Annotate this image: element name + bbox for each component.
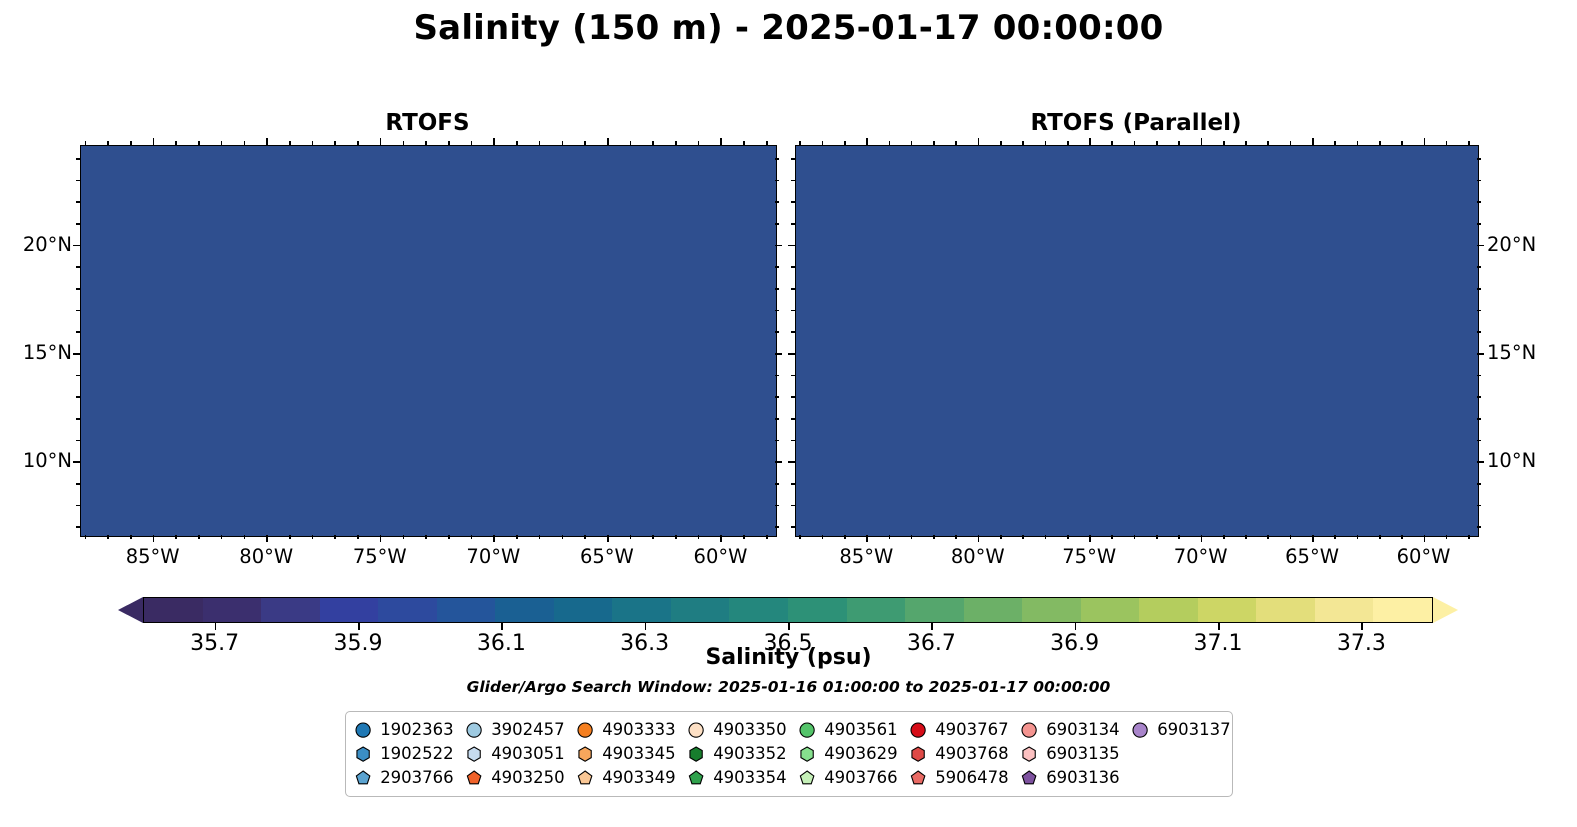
x-minor-tick-top — [889, 141, 891, 145]
legend-item-4903768[interactable]: 4903768 — [909, 745, 1020, 763]
colorbar-swatch-4 — [378, 598, 437, 622]
legend-marker-circle-icon — [465, 721, 483, 739]
y-minor-tick-right — [775, 223, 779, 225]
legend-item-4903349[interactable]: 4903349 — [576, 769, 687, 787]
legend-label: 4903767 — [935, 722, 1009, 739]
x-minor-tick — [955, 535, 957, 539]
y-minor-tick-right — [1477, 418, 1481, 420]
y-minor-tick-right — [775, 418, 779, 420]
legend-marker-circle-icon — [354, 721, 372, 739]
legend-item-4903345[interactable]: 4903345 — [576, 745, 687, 763]
x-minor-tick-top — [1022, 141, 1024, 145]
colorbar-swatch-9 — [671, 598, 730, 622]
x-minor-tick-top — [675, 141, 677, 145]
legend-item-5906478[interactable]: 5906478 — [909, 769, 1020, 787]
x-major-tick-top — [1312, 138, 1314, 145]
x-minor-tick — [175, 535, 177, 539]
x-minor-tick-top — [198, 141, 200, 145]
x-major-tick — [1089, 535, 1091, 542]
x-minor-tick — [1446, 535, 1448, 539]
x-minor-tick — [743, 535, 745, 539]
y-minor-tick-right — [1477, 288, 1481, 290]
y-minor-tick — [791, 158, 795, 160]
legend-marker-circle-icon — [687, 721, 705, 739]
platform-legend[interactable]: 1902363390245749033334903350490356149037… — [345, 711, 1233, 797]
x-major-tick-top — [153, 138, 155, 145]
x-minor-tick — [698, 535, 700, 539]
x-tick-label: 80°W — [221, 545, 311, 568]
x-minor-tick — [844, 535, 846, 539]
x-minor-tick — [1067, 535, 1069, 539]
x-major-tick-top — [978, 138, 980, 145]
x-minor-tick — [822, 535, 824, 539]
legend-item-4903629[interactable]: 4903629 — [798, 745, 909, 763]
x-tick-label: 80°W — [933, 545, 1023, 568]
x-minor-tick — [1290, 535, 1292, 539]
legend-label: 4903349 — [602, 770, 676, 787]
y-minor-tick — [791, 223, 795, 225]
x-minor-tick-top — [630, 141, 632, 145]
legend-label: 4903345 — [602, 746, 676, 763]
legend-label: 6903137 — [1157, 722, 1231, 739]
x-minor-tick — [675, 535, 677, 539]
x-minor-tick — [1000, 535, 1002, 539]
colorbar-tick — [215, 623, 217, 630]
y-tick-label-right: 20°N — [1487, 233, 1536, 256]
x-minor-tick-top — [1379, 141, 1381, 145]
colorbar-swatch-18 — [1198, 598, 1257, 622]
x-major-tick — [866, 535, 868, 542]
x-minor-tick-top — [652, 141, 654, 145]
x-minor-tick-top — [448, 141, 450, 145]
x-tick-label: 85°W — [108, 545, 198, 568]
y-minor-tick-right — [1477, 223, 1481, 225]
x-tick-label: 75°W — [1044, 545, 1134, 568]
y-minor-tick-right — [1477, 158, 1481, 160]
legend-label: 4903250 — [491, 770, 565, 787]
y-minor-tick — [791, 505, 795, 507]
x-minor-tick — [130, 535, 132, 539]
y-minor-tick — [791, 310, 795, 312]
x-minor-tick-top — [1245, 141, 1247, 145]
x-tick-label: 70°W — [1156, 545, 1246, 568]
x-minor-tick-top — [471, 141, 473, 145]
legend-marker-pentagon-icon — [465, 769, 483, 787]
x-minor-tick-top — [1468, 141, 1470, 145]
legend-item-4903250[interactable]: 4903250 — [465, 769, 576, 787]
x-major-tick — [153, 535, 155, 542]
x-minor-tick — [1379, 535, 1381, 539]
colorbar-swatch-3 — [320, 598, 379, 622]
x-major-tick-top — [493, 138, 495, 145]
legend-label: 6903135 — [1046, 746, 1120, 763]
x-minor-tick — [766, 535, 768, 539]
colorbar-swatch-19 — [1256, 598, 1315, 622]
y-major-tick — [73, 245, 80, 247]
x-minor-tick — [425, 535, 427, 539]
y-major-tick-right — [1477, 461, 1484, 463]
y-minor-tick-right — [775, 483, 779, 485]
x-major-tick — [266, 535, 268, 542]
legend-item-4903333[interactable]: 4903333 — [576, 721, 687, 739]
legend-label: 4903561 — [824, 722, 898, 739]
colorbar-swatch-16 — [1081, 598, 1140, 622]
x-tick-label: 60°W — [1379, 545, 1469, 568]
x-minor-tick — [334, 535, 336, 539]
colorbar-swatch-5 — [437, 598, 496, 622]
x-minor-tick — [221, 535, 223, 539]
legend-label: 4903768 — [935, 746, 1009, 763]
x-major-tick-top — [1201, 138, 1203, 145]
x-minor-tick-top — [1290, 141, 1292, 145]
x-minor-tick — [1134, 535, 1136, 539]
x-minor-tick — [107, 535, 109, 539]
y-minor-tick-right — [1477, 180, 1481, 182]
y-minor-tick — [76, 288, 80, 290]
subplot-title-rtofs-parallel: RTOFS (Parallel) — [795, 110, 1477, 136]
colorbar-swatch-2 — [261, 598, 320, 622]
y-minor-tick — [791, 526, 795, 528]
subplot-title-rtofs: RTOFS — [80, 110, 775, 136]
legend-label: 6903134 — [1046, 722, 1120, 739]
colorbar-tick — [358, 623, 360, 630]
colorbar-swatch-7 — [554, 598, 613, 622]
y-minor-tick-right — [1477, 201, 1481, 203]
y-minor-tick-right — [1477, 331, 1481, 333]
y-major-tick — [73, 353, 80, 355]
search-window-subtitle: Glider/Argo Search Window: 2025-01-16 01… — [0, 678, 1577, 696]
y-minor-tick — [791, 483, 795, 485]
y-tick-label-left: 20°N — [2, 233, 72, 256]
x-tick-label: 70°W — [448, 545, 538, 568]
y-minor-tick — [791, 288, 795, 290]
legend-label: 4903766 — [824, 770, 898, 787]
y-major-tick — [788, 461, 795, 463]
y-minor-tick — [791, 331, 795, 333]
x-minor-tick — [1245, 535, 1247, 539]
colorbar-gradient — [143, 597, 1433, 623]
x-minor-tick — [244, 535, 246, 539]
x-minor-tick — [562, 535, 564, 539]
y-minor-tick-right — [775, 505, 779, 507]
x-minor-tick-top — [516, 141, 518, 145]
x-minor-tick-top — [85, 141, 87, 145]
y-minor-tick — [76, 158, 80, 160]
colorbar-extend-low — [118, 597, 143, 623]
legend-marker-pentagon-icon — [798, 769, 816, 787]
colorbar-swatch-15 — [1022, 598, 1081, 622]
x-minor-tick-top — [1111, 141, 1113, 145]
x-major-tick — [1201, 535, 1203, 542]
salinity-field-rtofs — [81, 146, 776, 536]
y-minor-tick — [76, 396, 80, 398]
x-minor-tick — [403, 535, 405, 539]
x-major-tick — [1424, 535, 1426, 542]
y-minor-tick-right — [1477, 310, 1481, 312]
x-minor-tick-top — [1045, 141, 1047, 145]
page-title: Salinity (150 m) - 2025-01-17 00:00:00 — [0, 8, 1577, 48]
y-minor-tick-right — [775, 526, 779, 528]
x-major-tick — [978, 535, 980, 542]
legend-item-6903135[interactable]: 6903135 — [1020, 745, 1131, 763]
legend-label: 4903354 — [713, 770, 787, 787]
y-minor-tick-right — [775, 266, 779, 268]
x-minor-tick — [1223, 535, 1225, 539]
colorbar-swatch-10 — [729, 598, 788, 622]
y-major-tick-right — [1477, 245, 1484, 247]
legend-label: 4903352 — [713, 746, 787, 763]
x-minor-tick-top — [1178, 141, 1180, 145]
x-major-tick-top — [607, 138, 609, 145]
legend-marker-circle-icon — [576, 721, 594, 739]
x-minor-tick-top — [1357, 141, 1359, 145]
legend-marker-hexagon-icon — [909, 745, 927, 763]
x-minor-tick-top — [933, 141, 935, 145]
y-minor-tick-right — [1477, 375, 1481, 377]
legend-label: 2903766 — [380, 770, 454, 787]
map-panel-rtofs-parallel[interactable] — [795, 145, 1479, 537]
x-minor-tick-top — [175, 141, 177, 145]
y-minor-tick — [791, 375, 795, 377]
x-minor-tick — [584, 535, 586, 539]
y-minor-tick-right — [1477, 266, 1481, 268]
y-minor-tick-right — [775, 310, 779, 312]
x-major-tick-top — [720, 138, 722, 145]
x-minor-tick-top — [357, 141, 359, 145]
legend-label: 4903051 — [491, 746, 565, 763]
legend-label: 4903333 — [602, 722, 676, 739]
y-minor-tick — [76, 505, 80, 507]
x-tick-label: 65°W — [562, 545, 652, 568]
x-minor-tick-top — [289, 141, 291, 145]
x-minor-tick — [799, 535, 801, 539]
legend-item-6903137[interactable]: 6903137 — [1131, 721, 1242, 739]
colorbar-swatch-0 — [144, 598, 203, 622]
colorbar-swatch-8 — [612, 598, 671, 622]
colorbar-tick — [931, 623, 933, 630]
legend-label: 5906478 — [935, 770, 1009, 787]
y-minor-tick — [791, 440, 795, 442]
legend-item-4903354[interactable]: 4903354 — [687, 769, 798, 787]
colorbar-tick — [788, 623, 790, 630]
x-minor-tick — [539, 535, 541, 539]
x-minor-tick — [516, 535, 518, 539]
salinity-field-rtofs-parallel — [796, 146, 1478, 536]
y-minor-tick-right — [1477, 483, 1481, 485]
x-tick-label: 75°W — [335, 545, 425, 568]
legend-label: 4903350 — [713, 722, 787, 739]
y-major-tick — [788, 353, 795, 355]
x-major-tick — [720, 535, 722, 542]
x-minor-tick-top — [244, 141, 246, 145]
legend-marker-pentagon-icon — [1020, 769, 1038, 787]
x-minor-tick-top — [1334, 141, 1336, 145]
x-minor-tick-top — [584, 141, 586, 145]
y-minor-tick — [791, 396, 795, 398]
y-minor-tick — [791, 418, 795, 420]
x-major-tick-top — [380, 138, 382, 145]
colorbar-tick — [645, 623, 647, 630]
x-minor-tick — [1334, 535, 1336, 539]
x-minor-tick-top — [799, 141, 801, 145]
legend-label: 1902522 — [380, 746, 454, 763]
x-major-tick-top — [1424, 138, 1426, 145]
colorbar-swatch-17 — [1139, 598, 1198, 622]
legend-marker-hexagon-icon — [354, 745, 372, 763]
x-minor-tick-top — [1156, 141, 1158, 145]
x-minor-tick-top — [822, 141, 824, 145]
y-tick-label-right: 15°N — [1487, 341, 1536, 364]
legend-label: 3902457 — [491, 722, 565, 739]
y-major-tick — [788, 245, 795, 247]
x-major-tick — [607, 535, 609, 542]
x-major-tick-top — [1089, 138, 1091, 145]
x-minor-tick — [448, 535, 450, 539]
legend-item-1902363[interactable]: 1902363 — [354, 721, 465, 739]
x-minor-tick-top — [766, 141, 768, 145]
legend-item-6903134[interactable]: 6903134 — [1020, 721, 1131, 739]
x-minor-tick-top — [221, 141, 223, 145]
colorbar-swatch-14 — [964, 598, 1023, 622]
y-minor-tick-right — [775, 158, 779, 160]
y-major-tick — [73, 461, 80, 463]
x-minor-tick — [357, 535, 359, 539]
legend-marker-hexagon-icon — [465, 745, 483, 763]
colorbar-swatch-1 — [203, 598, 262, 622]
colorbar-tick — [501, 623, 503, 630]
x-minor-tick-top — [844, 141, 846, 145]
y-minor-tick — [76, 310, 80, 312]
colorbar-tick — [1218, 623, 1220, 630]
legend-item-3902457[interactable]: 3902457 — [465, 721, 576, 739]
y-tick-label-right: 10°N — [1487, 449, 1536, 472]
colorbar-label: Salinity (psu) — [0, 645, 1577, 670]
y-minor-tick-right — [1477, 505, 1481, 507]
legend-marker-hexagon-icon — [687, 745, 705, 763]
x-minor-tick-top — [425, 141, 427, 145]
y-minor-tick-right — [775, 201, 779, 203]
legend-marker-hexagon-icon — [1020, 745, 1038, 763]
figure: Salinity (150 m) - 2025-01-17 00:00:00 R… — [0, 0, 1577, 827]
legend-item-4903051[interactable]: 4903051 — [465, 745, 576, 763]
legend-item-4903766[interactable]: 4903766 — [798, 769, 909, 787]
x-minor-tick — [312, 535, 314, 539]
y-minor-tick — [791, 266, 795, 268]
x-minor-tick — [1267, 535, 1269, 539]
x-minor-tick — [1357, 535, 1359, 539]
x-minor-tick-top — [1067, 141, 1069, 145]
legend-item-4903352[interactable]: 4903352 — [687, 745, 798, 763]
legend-marker-pentagon-icon — [354, 769, 372, 787]
y-minor-tick — [76, 223, 80, 225]
x-minor-tick-top — [403, 141, 405, 145]
x-minor-tick — [652, 535, 654, 539]
y-minor-tick-right — [775, 180, 779, 182]
legend-marker-circle-icon — [1020, 721, 1038, 739]
legend-item-2903766[interactable]: 2903766 — [354, 769, 465, 787]
map-panel-rtofs[interactable] — [80, 145, 777, 537]
legend-item-4903767[interactable]: 4903767 — [909, 721, 1020, 739]
x-minor-tick-top — [312, 141, 314, 145]
y-minor-tick-right — [775, 331, 779, 333]
legend-item-4903561[interactable]: 4903561 — [798, 721, 909, 739]
x-minor-tick-top — [1267, 141, 1269, 145]
y-minor-tick — [76, 526, 80, 528]
x-tick-label: 60°W — [675, 545, 765, 568]
x-major-tick — [493, 535, 495, 542]
x-minor-tick — [889, 535, 891, 539]
legend-item-6903136[interactable]: 6903136 — [1020, 769, 1131, 787]
colorbar-swatch-6 — [495, 598, 554, 622]
y-tick-label-left: 10°N — [2, 449, 72, 472]
legend-item-4903350[interactable]: 4903350 — [687, 721, 798, 739]
colorbar-tick — [1361, 623, 1363, 630]
y-tick-label-left: 15°N — [2, 341, 72, 364]
y-minor-tick-right — [1477, 440, 1481, 442]
legend-marker-pentagon-icon — [576, 769, 594, 787]
x-major-tick-top — [866, 138, 868, 145]
x-minor-tick — [1178, 535, 1180, 539]
y-major-tick-right — [1477, 353, 1484, 355]
x-minor-tick — [198, 535, 200, 539]
x-minor-tick — [1156, 535, 1158, 539]
x-minor-tick — [911, 535, 913, 539]
x-tick-label: 85°W — [821, 545, 911, 568]
y-major-tick-right — [775, 461, 782, 463]
legend-marker-circle-icon — [909, 721, 927, 739]
x-minor-tick — [1401, 535, 1403, 539]
y-minor-tick — [76, 180, 80, 182]
y-minor-tick-right — [775, 396, 779, 398]
legend-marker-circle-icon — [1131, 721, 1149, 739]
x-minor-tick-top — [107, 141, 109, 145]
x-tick-label: 65°W — [1267, 545, 1357, 568]
legend-marker-hexagon-icon — [798, 745, 816, 763]
y-minor-tick — [76, 440, 80, 442]
y-minor-tick — [791, 201, 795, 203]
legend-marker-pentagon-icon — [687, 769, 705, 787]
colorbar-swatch-11 — [788, 598, 847, 622]
x-minor-tick — [630, 535, 632, 539]
legend-label: 1902363 — [380, 722, 454, 739]
x-major-tick-top — [266, 138, 268, 145]
y-minor-tick-right — [775, 375, 779, 377]
x-minor-tick-top — [911, 141, 913, 145]
y-minor-tick — [76, 266, 80, 268]
legend-grid: 1902363390245749033334903350490356149037… — [354, 718, 1242, 790]
x-minor-tick-top — [539, 141, 541, 145]
legend-item-1902522[interactable]: 1902522 — [354, 745, 465, 763]
colorbar-swatch-21 — [1373, 598, 1432, 622]
legend-marker-circle-icon — [798, 721, 816, 739]
y-minor-tick — [76, 331, 80, 333]
x-minor-tick-top — [1134, 141, 1136, 145]
x-minor-tick-top — [1000, 141, 1002, 145]
y-minor-tick-right — [1477, 526, 1481, 528]
x-major-tick — [380, 535, 382, 542]
x-minor-tick — [1045, 535, 1047, 539]
x-minor-tick-top — [334, 141, 336, 145]
x-minor-tick-top — [1401, 141, 1403, 145]
x-minor-tick-top — [743, 141, 745, 145]
x-minor-tick — [933, 535, 935, 539]
legend-label: 6903136 — [1046, 770, 1120, 787]
x-minor-tick-top — [130, 141, 132, 145]
y-minor-tick-right — [1477, 396, 1481, 398]
x-minor-tick — [85, 535, 87, 539]
colorbar-swatch-12 — [847, 598, 906, 622]
colorbar[interactable]: 35.735.936.136.336.536.736.937.137.3 — [118, 597, 1458, 623]
